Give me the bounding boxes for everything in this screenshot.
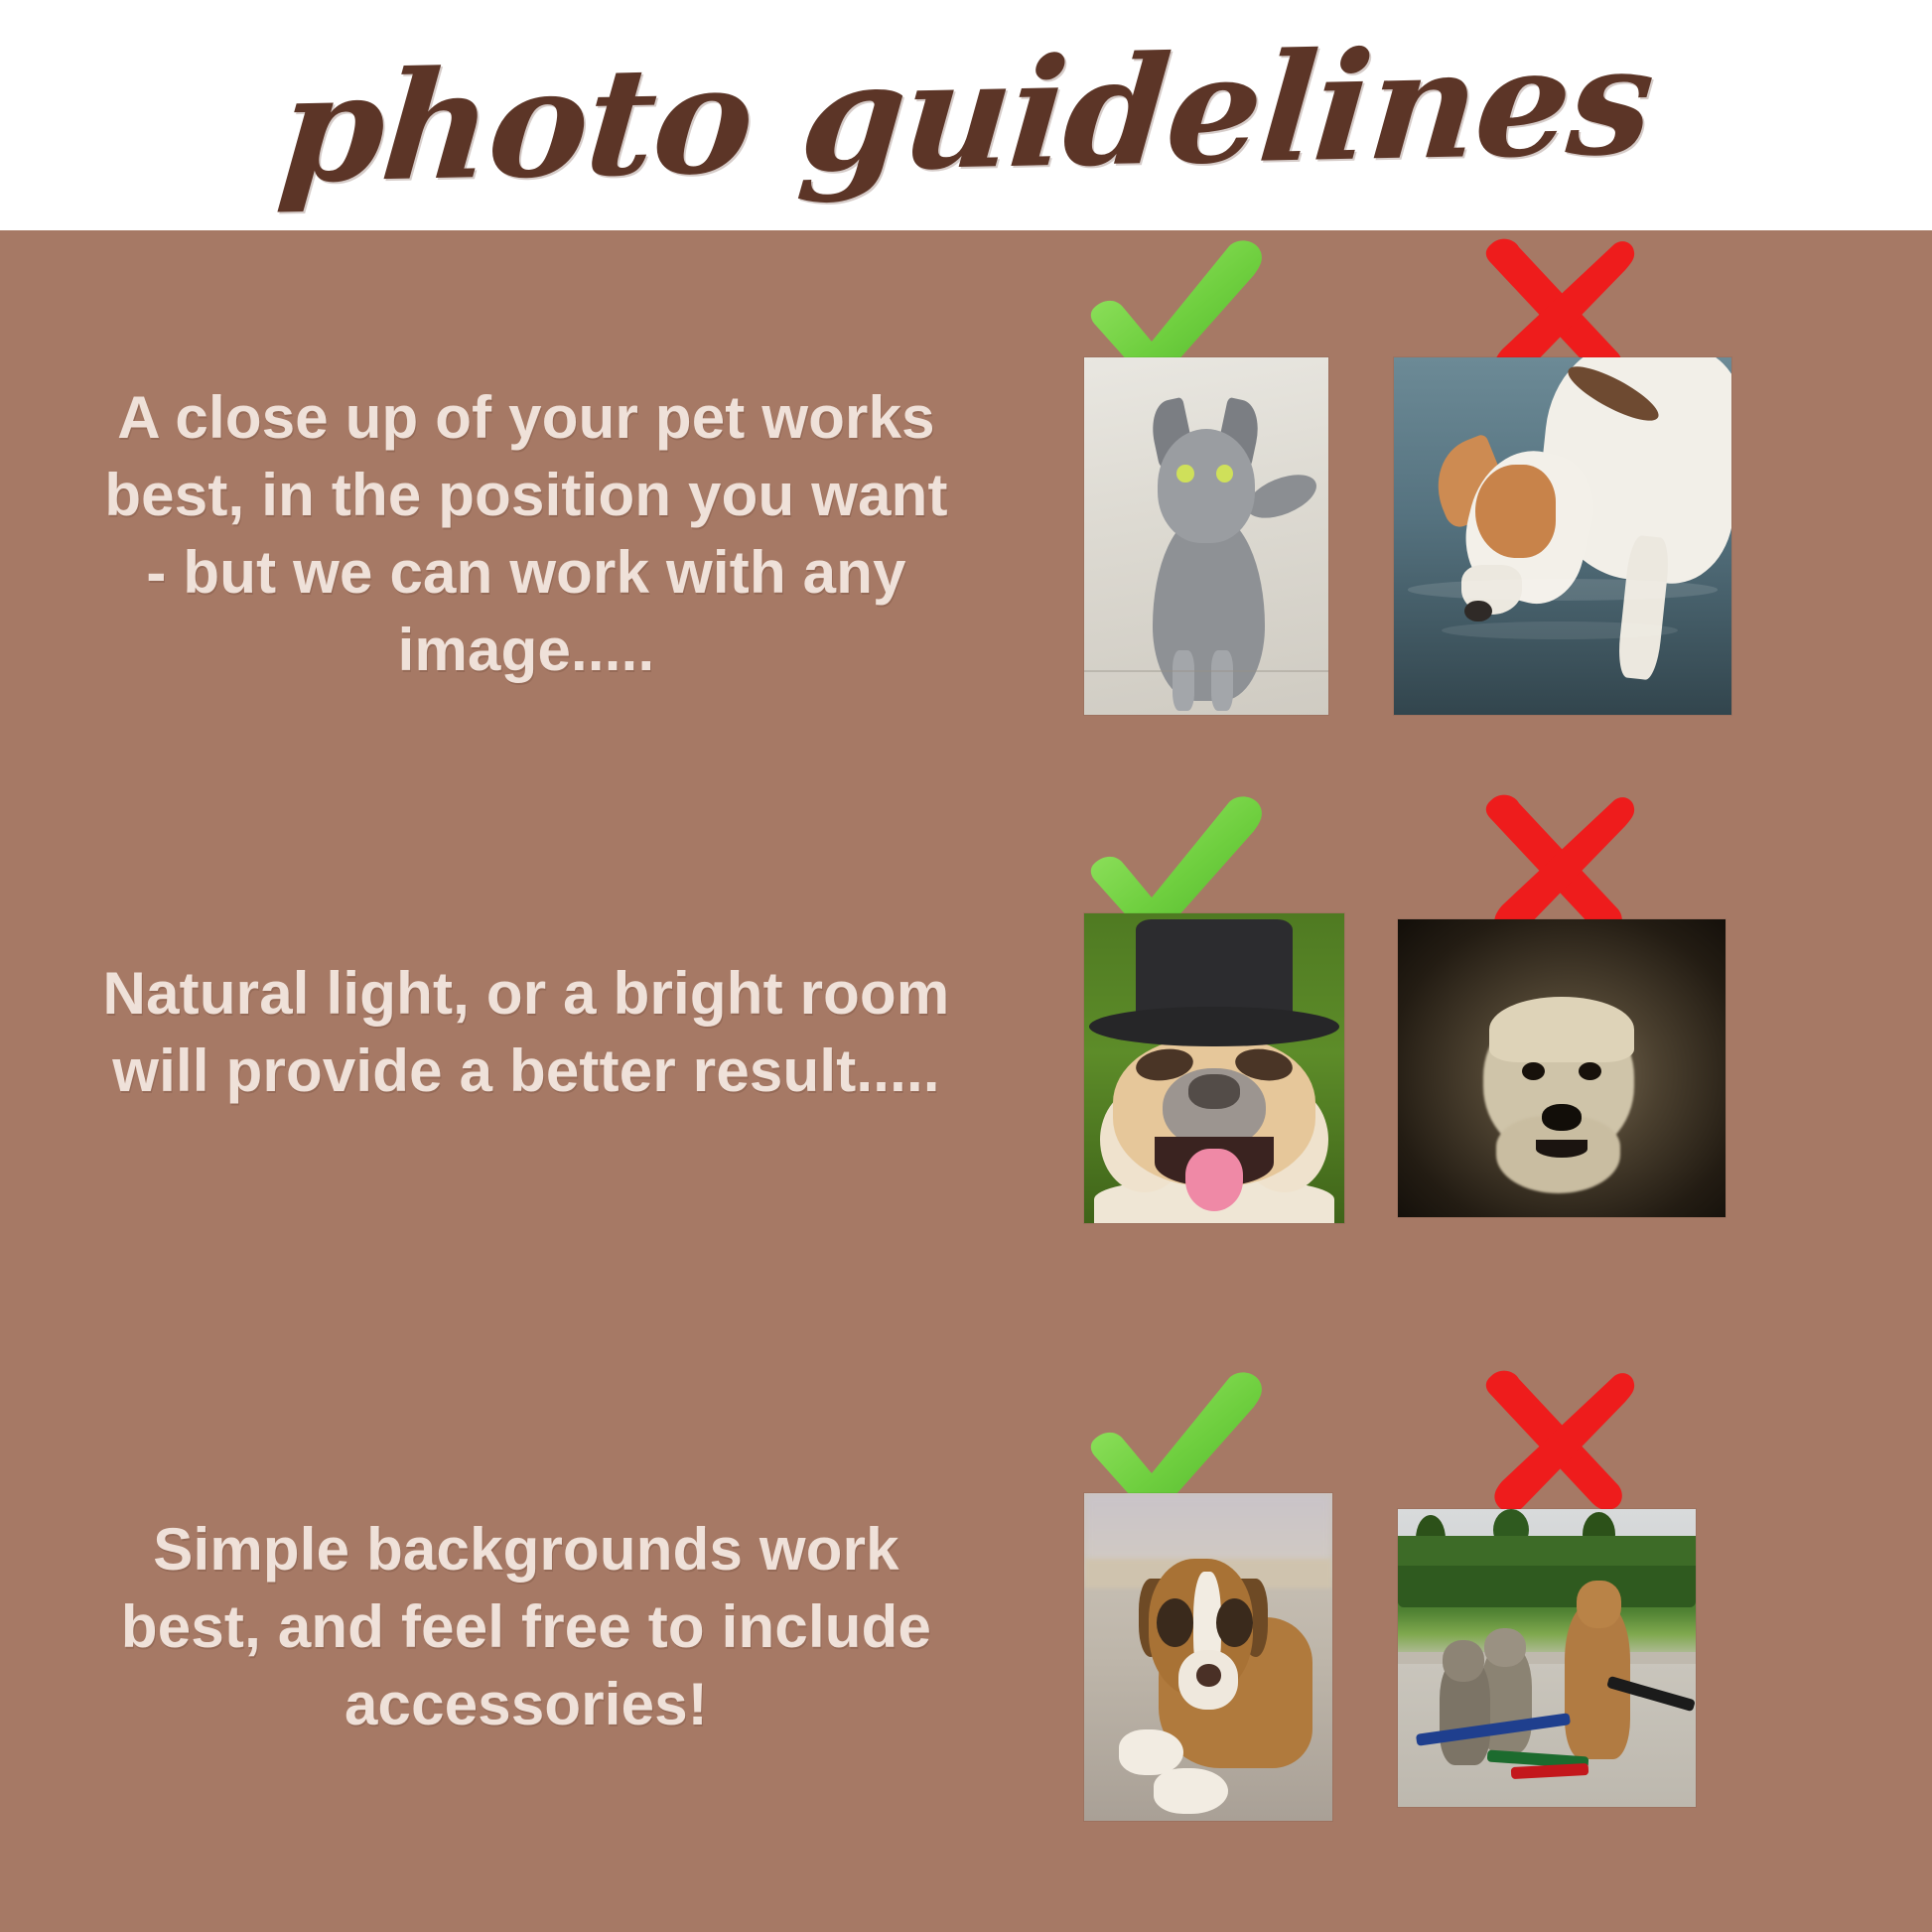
red-cross-icon bbox=[1440, 1362, 1668, 1511]
page-title: photo guidelines bbox=[274, 27, 1657, 205]
header-band: photo guidelines bbox=[0, 0, 1932, 230]
guideline-text-lighting: Natural light, or a bright room will pro… bbox=[89, 955, 963, 1110]
example-photo-good-cat-closeup bbox=[1084, 357, 1328, 715]
guideline-text-backgrounds: Simple backgrounds work best, and feel f… bbox=[89, 1511, 963, 1743]
guideline-row-close-up: A close up of your pet works best, in th… bbox=[0, 230, 1932, 786]
red-cross-icon bbox=[1440, 786, 1668, 935]
green-check-icon bbox=[1072, 1362, 1301, 1511]
guideline-row-backgrounds: Simple backgrounds work best, and feel f… bbox=[0, 1342, 1932, 1932]
guidelines-body: A close up of your pet works best, in th… bbox=[0, 230, 1932, 1932]
example-photo-bad-dark-dog bbox=[1398, 919, 1725, 1217]
example-photo-bad-three-dogs-outdoors bbox=[1398, 1509, 1696, 1807]
example-photo-bad-dog-drinking bbox=[1394, 357, 1731, 715]
mark-row-backgrounds bbox=[1052, 1362, 1827, 1511]
example-photo-good-bulldog-tophat bbox=[1084, 913, 1344, 1223]
guideline-row-lighting: Natural light, or a bright room will pro… bbox=[0, 786, 1932, 1342]
guideline-text-close-up: A close up of your pet works best, in th… bbox=[89, 379, 963, 689]
example-photo-good-boxer-puppy bbox=[1084, 1493, 1332, 1821]
